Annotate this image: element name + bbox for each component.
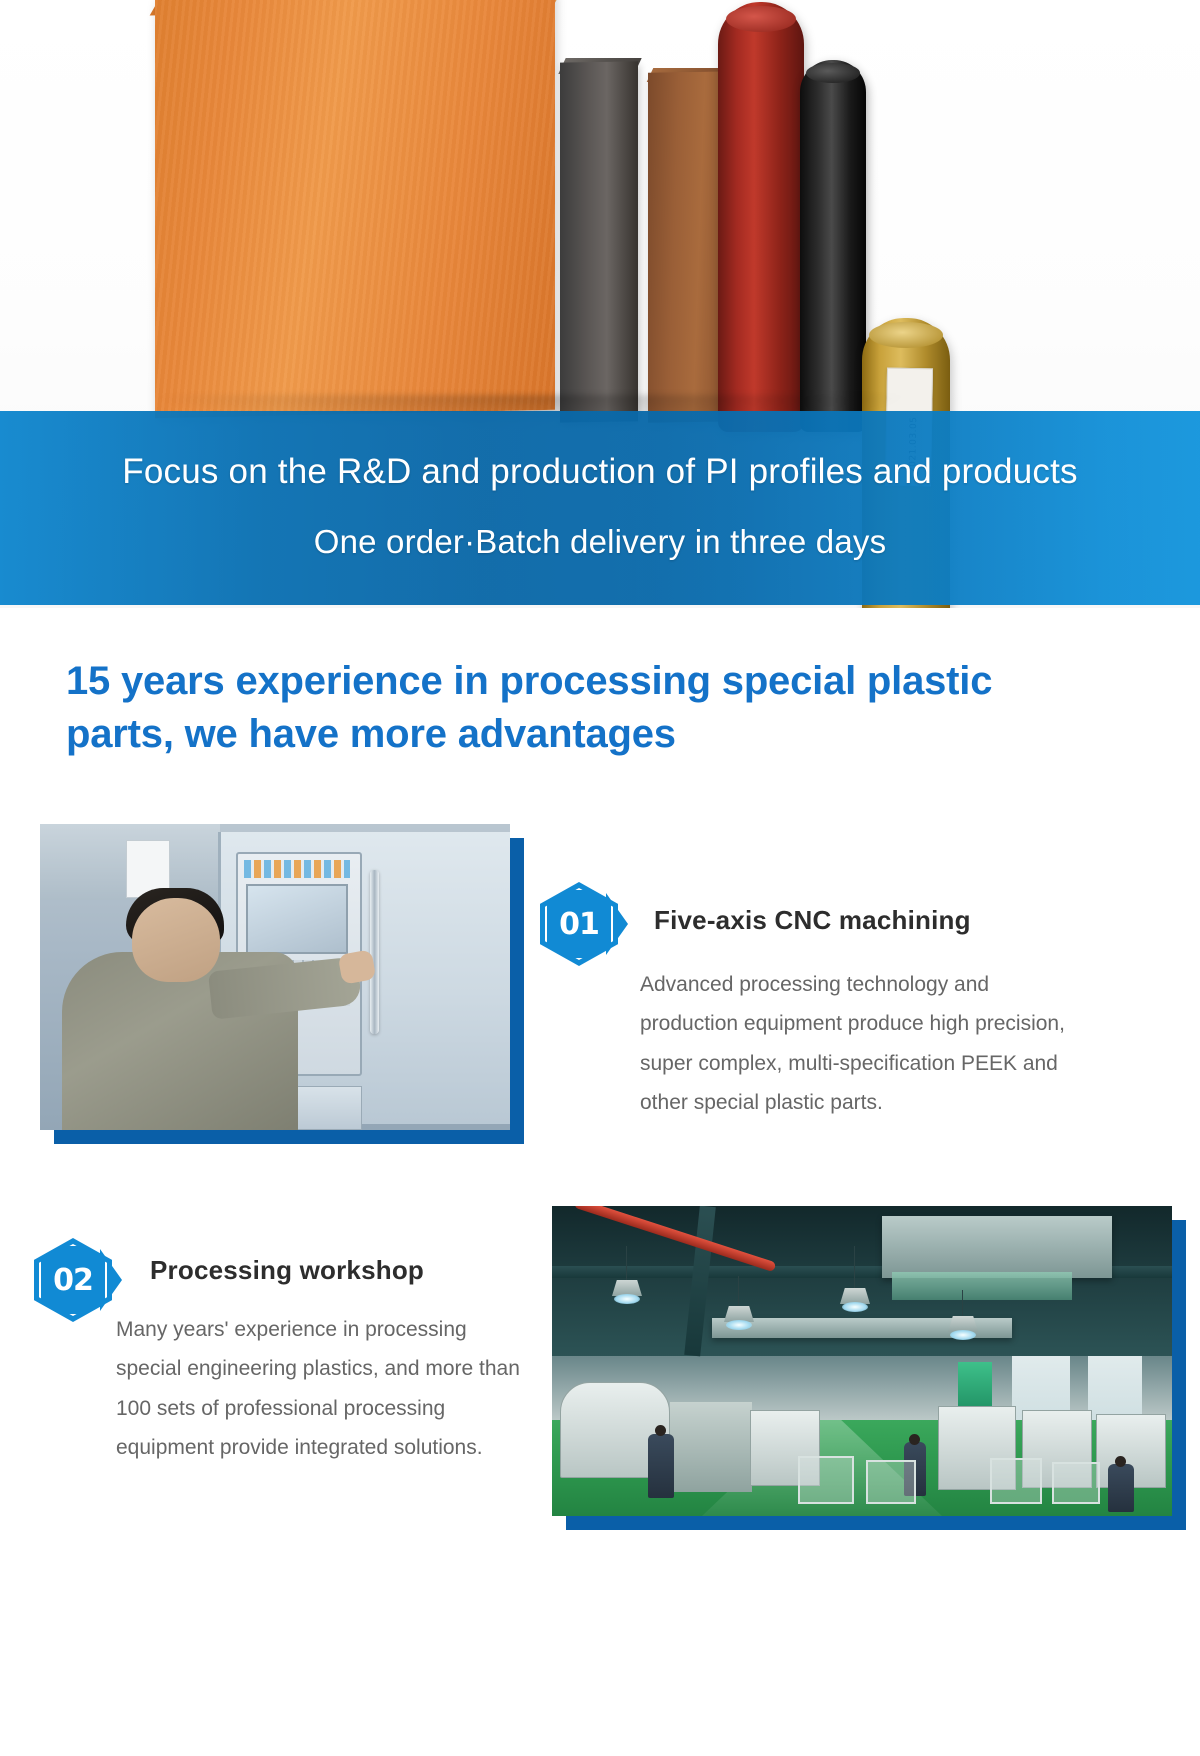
grey-plastic-slab <box>560 61 638 422</box>
cnc-machining-photo <box>40 824 510 1130</box>
cnc-door-handle <box>370 870 379 1034</box>
workshop-scene <box>552 1206 1172 1516</box>
material-cart-3 <box>990 1458 1042 1504</box>
feature-01-body: Advanced processing technology and produ… <box>640 965 1070 1123</box>
feature-01-badge: 01 <box>540 882 618 966</box>
hvac-duct-green <box>892 1272 1072 1300</box>
badge-02-number: 02 <box>53 1263 93 1298</box>
feature-02-body: Many years' experience in processing spe… <box>116 1310 521 1468</box>
worker-1-head <box>655 1425 666 1436</box>
material-cart-4 <box>1052 1462 1100 1504</box>
lamp-cord-3 <box>854 1246 855 1288</box>
section-headline: 15 years experience in processing specia… <box>66 655 1066 761</box>
operator-head <box>132 898 220 982</box>
feature-01-title: Five-axis CNC machining <box>654 905 1074 936</box>
workshop-photo <box>552 1206 1172 1516</box>
black-plastic-rod <box>800 60 866 432</box>
badge-01-hexagon: 01 <box>540 882 618 966</box>
feature-02-badge: 02 <box>34 1238 112 1322</box>
lamp-glow-4 <box>950 1330 976 1340</box>
cnc-machine-2 <box>670 1402 752 1492</box>
blue-tagline-banner <box>0 411 1200 605</box>
hvac-duct-main <box>882 1216 1112 1278</box>
lamp-cord-4 <box>962 1290 963 1316</box>
banner-line-2: One order·Batch delivery in three days <box>0 523 1200 561</box>
badge-01-number: 01 <box>559 907 599 942</box>
red-plastic-rod <box>718 2 804 432</box>
product-detail-page: 2021.03.05 Focus on the R&D and producti… <box>0 0 1200 1756</box>
lamp-glow-3 <box>842 1302 868 1312</box>
material-cart-1 <box>798 1456 854 1504</box>
cnc-display-screen <box>246 884 348 954</box>
worker-1 <box>648 1434 674 1498</box>
lamp-cord-1 <box>626 1246 627 1280</box>
lamp-glow-1 <box>614 1294 640 1304</box>
worker-2-head <box>909 1434 920 1445</box>
lamp-glow-2 <box>726 1320 752 1330</box>
cnc-scene <box>40 824 510 1130</box>
worker-3-head <box>1115 1456 1126 1467</box>
cnc-keypad-top <box>244 860 350 878</box>
banner-line-1: Focus on the R&D and production of PI pr… <box>0 452 1200 492</box>
material-cart-2 <box>866 1460 916 1504</box>
worker-3 <box>1108 1464 1134 1512</box>
badge-02-hexagon: 02 <box>34 1238 112 1322</box>
orange-phenolic-sheet <box>155 0 555 418</box>
feature-02-title: Processing workshop <box>150 1255 530 1286</box>
lamp-cord-2 <box>738 1276 739 1306</box>
